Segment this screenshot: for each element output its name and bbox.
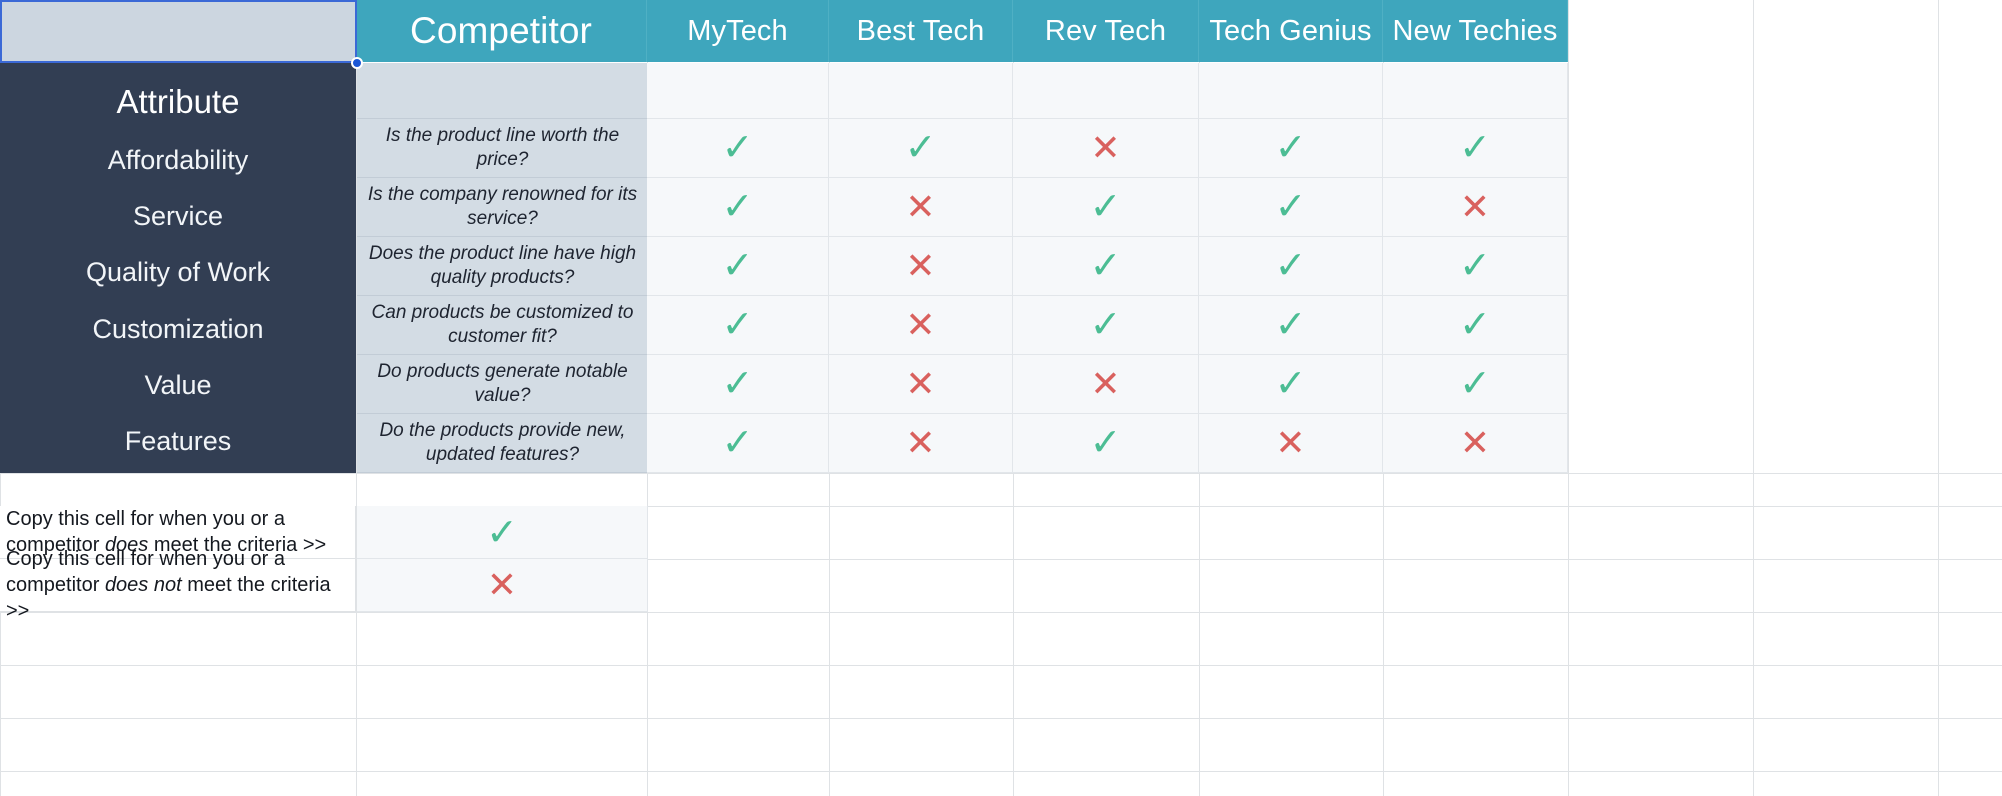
legend-text: Copy this cell for when you or a competi… <box>6 546 349 624</box>
cross-icon: ✕ <box>1275 425 1305 461</box>
value-cell[interactable]: ✓ <box>647 119 829 178</box>
value-cell[interactable]: ✓ <box>647 237 829 296</box>
value-cell[interactable]: ✕ <box>1383 178 1568 237</box>
cross-icon: ✕ <box>1460 425 1490 461</box>
check-icon: ✓ <box>1090 306 1122 344</box>
value-cell[interactable]: ✓ <box>1013 414 1199 473</box>
check-icon: ✓ <box>1275 188 1307 226</box>
question-cell[interactable]: Do the products provide new, updated fea… <box>357 414 648 473</box>
value-cell[interactable]: ✕ <box>829 296 1013 355</box>
value-cell[interactable]: ✓ <box>647 355 829 414</box>
check-icon: ✓ <box>722 129 754 167</box>
attribute-item-features: Features <box>0 428 356 455</box>
attribute-item-service: Service <box>0 203 356 230</box>
question-cell[interactable]: Does the product line have high quality … <box>357 237 648 296</box>
check-icon: ✓ <box>1090 247 1122 285</box>
legend-text-emphasis: does not <box>105 574 182 596</box>
header-cell-mytech[interactable]: MyTech <box>647 0 829 62</box>
value-cell[interactable]: ✓ <box>1199 119 1383 178</box>
check-icon: ✓ <box>1459 306 1491 344</box>
attribute-column-title: Attribute <box>0 85 356 118</box>
cross-icon: ✕ <box>905 425 935 461</box>
value-cell[interactable]: ✕ <box>1013 355 1199 414</box>
value-column-rev-tech: ✕✓✓✓✕✓ <box>1013 63 1199 473</box>
question-cell[interactable]: Is the company renowned for its service? <box>357 178 648 237</box>
cross-icon: ✕ <box>1460 189 1490 225</box>
spreadsheet-canvas: CompetitorMyTechBest TechRev TechTech Ge… <box>0 0 2002 796</box>
value-cell[interactable]: ✓ <box>1013 296 1199 355</box>
value-cell[interactable]: ✕ <box>1199 414 1383 473</box>
attribute-item-affordability: Affordability <box>0 147 356 174</box>
question-cell[interactable]: Do products generate notable value? <box>357 355 648 414</box>
value-cell[interactable]: ✕ <box>1383 414 1568 473</box>
value-cell[interactable]: ✓ <box>1199 296 1383 355</box>
grid-row-line <box>0 771 2002 772</box>
check-icon: ✓ <box>1275 365 1307 403</box>
grid-row-line <box>0 718 2002 719</box>
legend-row-does-not-meet-criteria-label[interactable]: Copy this cell for when you or a competi… <box>0 559 356 612</box>
attribute-item-customization: Customization <box>0 316 356 343</box>
value-cell[interactable]: ✕ <box>829 355 1013 414</box>
grid-column-line <box>1753 0 1754 796</box>
value-cell[interactable]: ✓ <box>1199 178 1383 237</box>
cross-icon: ✕ <box>1090 366 1120 402</box>
value-cell[interactable]: ✓ <box>1199 355 1383 414</box>
check-icon: ✓ <box>486 510 518 555</box>
check-icon: ✓ <box>1275 129 1307 167</box>
header-cell-tech-genius[interactable]: Tech Genius <box>1199 0 1383 62</box>
header-cell-rev-tech[interactable]: Rev Tech <box>1013 0 1199 62</box>
attribute-item-quality-of-work: Quality of Work <box>0 259 356 286</box>
check-icon: ✓ <box>1459 365 1491 403</box>
value-column-best-tech: ✓✕✕✕✕✕ <box>829 63 1013 473</box>
check-icon: ✓ <box>722 247 754 285</box>
check-icon: ✓ <box>905 129 937 167</box>
value-cell[interactable]: ✕ <box>829 414 1013 473</box>
value-cell-blank[interactable] <box>829 63 1013 119</box>
check-icon: ✓ <box>722 306 754 344</box>
value-cell[interactable]: ✕ <box>1013 119 1199 178</box>
grid-row-line <box>0 473 2002 474</box>
value-cell[interactable]: ✓ <box>829 119 1013 178</box>
legend-row-does-not-meet-criteria-marker[interactable]: ✕ <box>357 559 648 612</box>
value-cell[interactable]: ✕ <box>829 178 1013 237</box>
question-column: Is the product line worth the price?Is t… <box>357 63 648 473</box>
value-cell[interactable]: ✓ <box>647 414 829 473</box>
check-icon: ✓ <box>722 424 754 462</box>
cell-selection-outline[interactable] <box>0 0 357 63</box>
attribute-column[interactable]: AttributeAffordabilityServiceQuality of … <box>0 63 356 473</box>
check-icon: ✓ <box>1090 188 1122 226</box>
check-icon: ✓ <box>1275 247 1307 285</box>
check-icon: ✓ <box>1459 129 1491 167</box>
cross-icon: ✕ <box>1090 130 1120 166</box>
value-cell[interactable]: ✓ <box>647 296 829 355</box>
value-cell-blank[interactable] <box>1013 63 1199 119</box>
question-cell-blank[interactable] <box>357 63 648 119</box>
value-column-new-techies: ✓✕✓✓✓✕ <box>1383 63 1568 473</box>
value-cell[interactable]: ✓ <box>1383 355 1568 414</box>
attribute-item-value: Value <box>0 372 356 399</box>
value-cell[interactable]: ✓ <box>1013 237 1199 296</box>
cross-icon: ✕ <box>905 248 935 284</box>
value-column-tech-genius: ✓✓✓✓✓✕ <box>1199 63 1383 473</box>
check-icon: ✓ <box>1090 424 1122 462</box>
question-cell[interactable]: Can products be customized to customer f… <box>357 296 648 355</box>
value-cell[interactable]: ✓ <box>1383 119 1568 178</box>
grid-column-line <box>1938 0 1939 796</box>
legend-row-meets-criteria-marker[interactable]: ✓ <box>357 506 648 559</box>
value-cell-blank[interactable] <box>1199 63 1383 119</box>
check-icon: ✓ <box>1459 247 1491 285</box>
value-cell[interactable]: ✓ <box>1013 178 1199 237</box>
header-cell-competitor[interactable]: Competitor <box>356 0 647 62</box>
value-cell[interactable]: ✓ <box>1383 296 1568 355</box>
cross-icon: ✕ <box>905 366 935 402</box>
check-icon: ✓ <box>722 365 754 403</box>
question-cell[interactable]: Is the product line worth the price? <box>357 119 648 178</box>
check-icon: ✓ <box>1275 306 1307 344</box>
value-cell[interactable]: ✓ <box>1199 237 1383 296</box>
value-cell[interactable]: ✓ <box>1383 237 1568 296</box>
value-cell-blank[interactable] <box>647 63 829 119</box>
value-cell-blank[interactable] <box>1383 63 1568 119</box>
value-cell[interactable]: ✓ <box>647 178 829 237</box>
header-cell-new-techies[interactable]: New Techies <box>1383 0 1568 62</box>
grid-column-line <box>1568 0 1569 796</box>
cross-icon: ✕ <box>905 307 935 343</box>
header-cell-best-tech[interactable]: Best Tech <box>829 0 1013 62</box>
cross-icon: ✕ <box>487 564 517 606</box>
value-column-mytech: ✓✓✓✓✓✓ <box>647 63 829 473</box>
fill-handle[interactable] <box>351 57 363 69</box>
grid-row-line <box>0 665 2002 666</box>
value-cell[interactable]: ✕ <box>829 237 1013 296</box>
check-icon: ✓ <box>722 188 754 226</box>
cross-icon: ✕ <box>905 189 935 225</box>
